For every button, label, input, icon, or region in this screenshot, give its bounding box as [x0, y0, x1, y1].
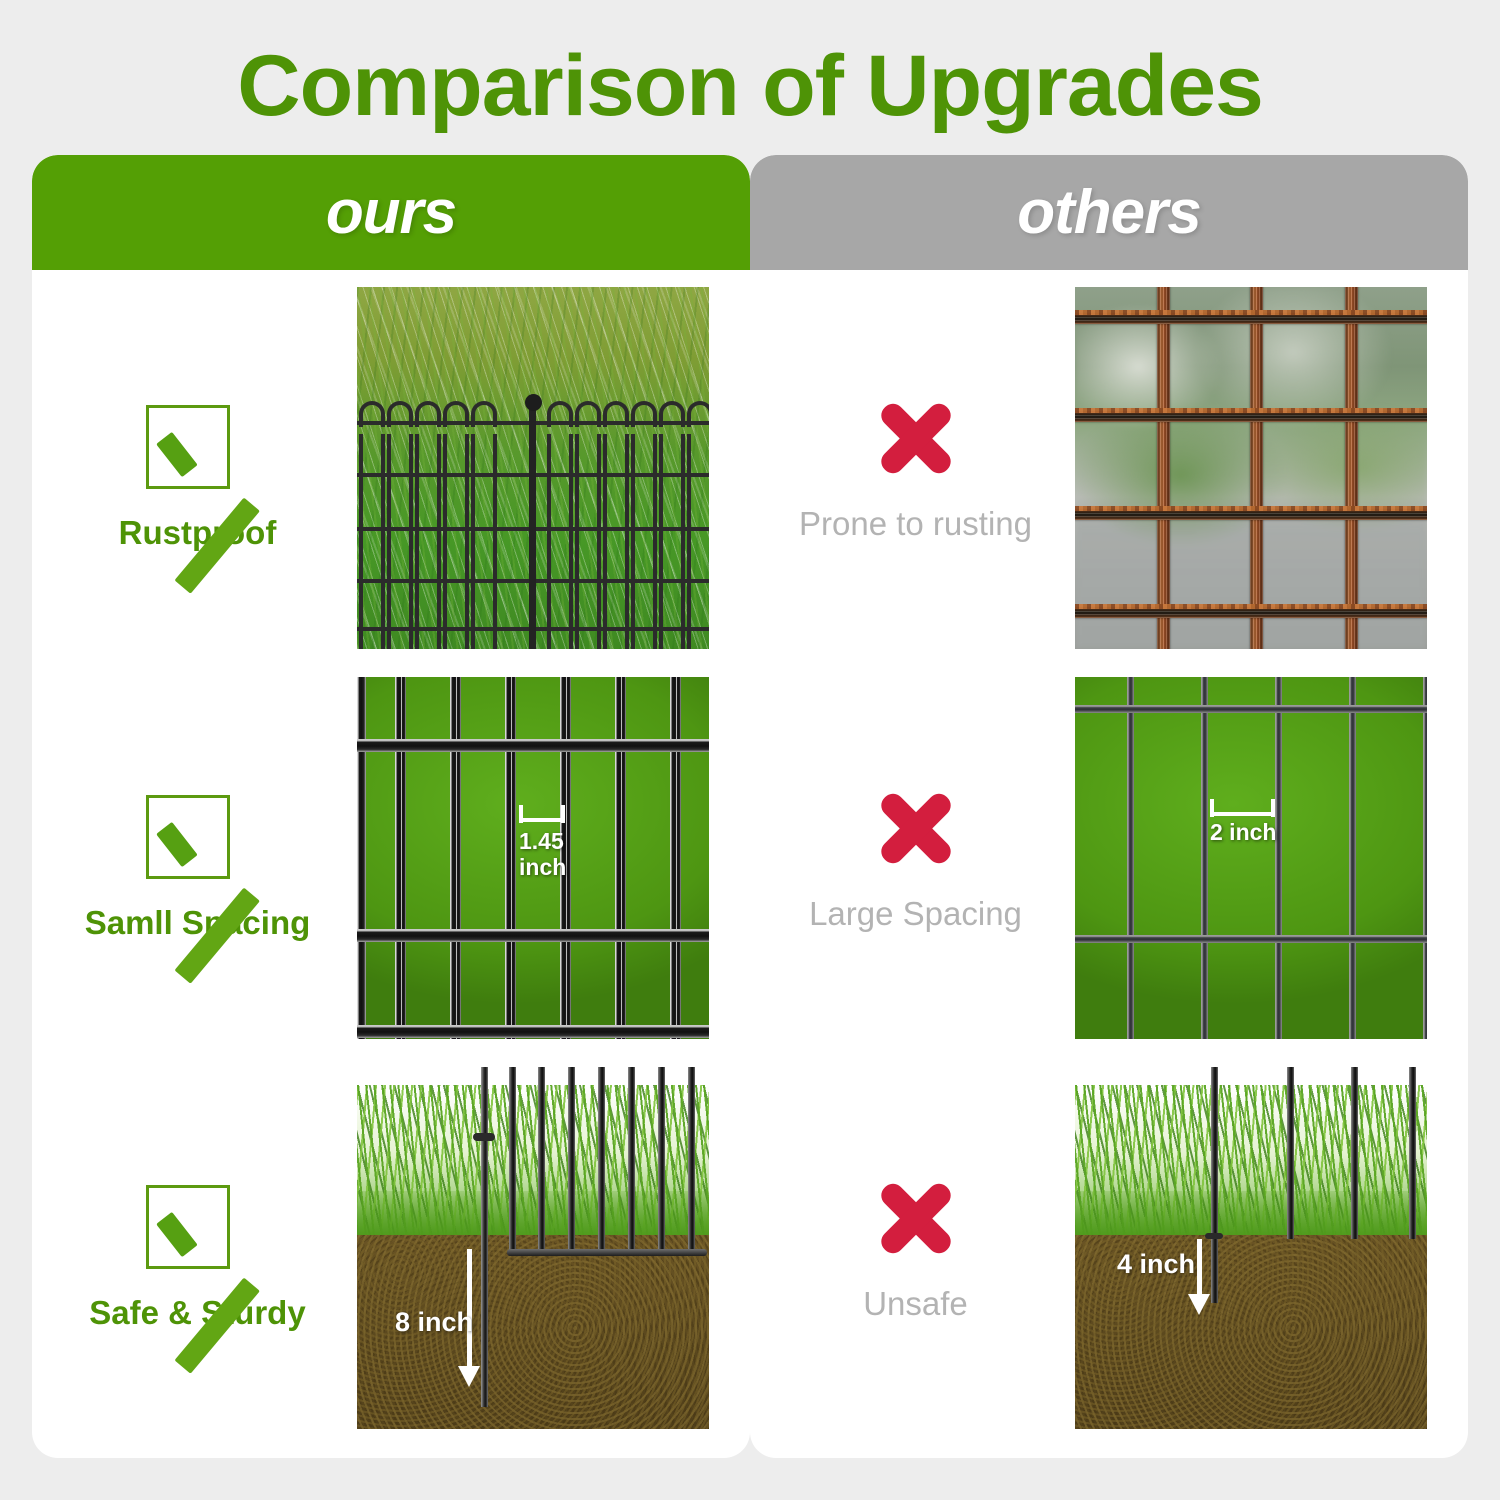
comparison-columns: ours Rustproof	[0, 155, 1500, 1465]
x-icon	[870, 1172, 962, 1264]
feature-label-safe-sturdy: Safe & Sturdy	[89, 1293, 305, 1333]
wide-spacing-fence-photo: 2 inch	[1075, 677, 1427, 1039]
dimension-annotation-2-inch: 2 inch	[1210, 799, 1275, 845]
feature-unsafe: Unsafe	[750, 1172, 1075, 1324]
rain-on-black-fence-photo	[357, 287, 709, 649]
dimension-annotation-1-45-inch: 1.45 inch	[519, 805, 565, 880]
x-icon	[870, 392, 962, 484]
row-large-spacing: Large Spacing	[750, 660, 1468, 1056]
page-title: Comparison of Upgrades	[0, 34, 1500, 138]
deep-stake-ground-photo: 8 inch	[357, 1067, 709, 1429]
check-icon	[138, 1163, 258, 1273]
depth-label-8-inch: 8 inch	[395, 1307, 473, 1337]
depth-label-4-inch: 4 inch	[1117, 1249, 1195, 1279]
others-card: others Prone to rusting	[750, 155, 1468, 1458]
column-others: others Prone to rusting	[750, 155, 1468, 1458]
feature-label-large-spacing: Large Spacing	[809, 894, 1022, 934]
feature-rustproof: Rustproof	[32, 383, 357, 553]
others-rows: Prone to rusting	[750, 270, 1468, 1458]
depth-arrow	[1197, 1239, 1202, 1297]
feature-large-spacing: Large Spacing	[750, 782, 1075, 934]
x-icon	[870, 782, 962, 874]
row-prone-to-rusting: Prone to rusting	[750, 270, 1468, 666]
rusty-mesh-photo	[1075, 287, 1427, 649]
row-safe-sturdy: Safe & Sturdy	[32, 1050, 750, 1446]
ours-card: ours Rustproof	[32, 155, 750, 1458]
tab-others[interactable]: others	[750, 155, 1468, 270]
dimension-text: 1.45 inch	[519, 828, 565, 880]
feature-label-prone-to-rusting: Prone to rusting	[799, 504, 1032, 544]
feature-label-small-spacing: Samll Spacing	[85, 903, 311, 943]
check-icon	[138, 773, 258, 883]
row-small-spacing: Samll Spacing	[32, 660, 750, 1056]
row-rustproof: Rustproof	[32, 270, 750, 666]
shallow-stake-ground-photo: 4 inch	[1075, 1067, 1427, 1429]
dimension-text: 2 inch	[1210, 819, 1275, 845]
column-ours: ours Rustproof	[32, 155, 750, 1458]
tab-ours[interactable]: ours	[32, 155, 750, 270]
feature-label-unsafe: Unsafe	[863, 1284, 968, 1324]
feature-prone-to-rusting: Prone to rusting	[750, 392, 1075, 544]
tab-ours-label: ours	[326, 182, 456, 244]
check-icon	[138, 383, 258, 493]
tab-others-label: others	[1017, 182, 1200, 244]
narrow-spacing-fence-photo: 1.45 inch	[357, 677, 709, 1039]
ours-rows: Rustproof	[32, 270, 750, 1458]
feature-safe-sturdy: Safe & Sturdy	[32, 1163, 357, 1333]
row-unsafe: Unsafe 4 inch	[750, 1050, 1468, 1446]
feature-small-spacing: Samll Spacing	[32, 773, 357, 943]
